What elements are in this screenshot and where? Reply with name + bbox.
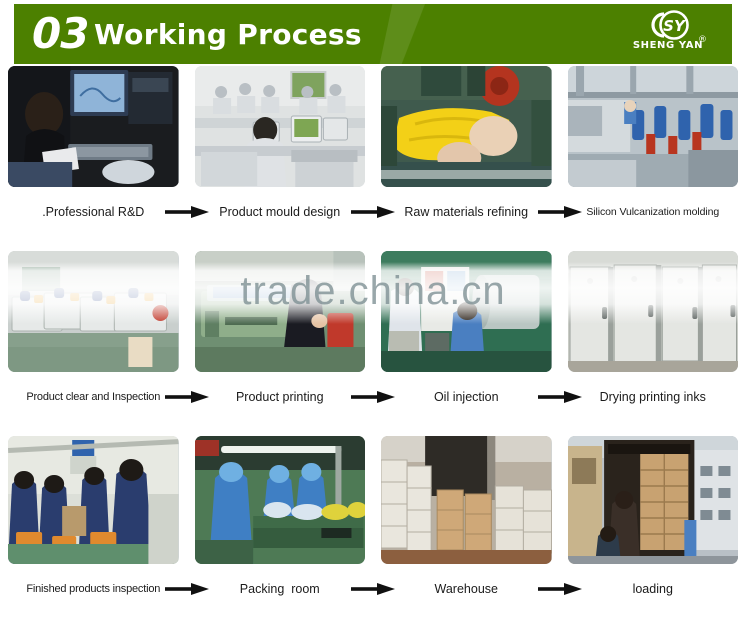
step-caption: Product printing — [236, 389, 324, 405]
process-step — [560, 436, 746, 564]
arrow-right-icon — [538, 391, 582, 403]
arrow-right-icon — [351, 391, 395, 403]
caption-cell: Finished products inspection — [0, 581, 187, 597]
process-step — [560, 251, 746, 372]
caption-cell: Drying printing inks — [560, 389, 746, 405]
caption-cell: .Professional R&D — [0, 204, 187, 220]
caption-strip: Finished products inspection Packing roo… — [0, 574, 746, 604]
arrow-right-icon — [165, 206, 209, 218]
step-caption: Warehouse — [435, 581, 498, 597]
arrow-right-icon — [351, 206, 395, 218]
process-step — [560, 66, 746, 187]
arrow-right-icon — [538, 583, 582, 595]
process-step — [373, 251, 560, 372]
photo-loading — [568, 436, 739, 564]
photo-product-clear-and-inspection — [8, 251, 179, 372]
process-step — [187, 66, 374, 187]
step-caption: Raw materials refining — [404, 204, 528, 220]
photo-finished-products-inspection — [8, 436, 179, 564]
step-caption: Drying printing inks — [600, 389, 706, 405]
photo-product-mould-design — [195, 66, 366, 187]
photo-product-printing — [195, 251, 366, 372]
arrow-right-icon — [165, 583, 209, 595]
caption-strip: .Professional R&D Product mould design — [0, 197, 746, 227]
caption-cell: Packing room — [187, 581, 374, 597]
process-row: .Professional R&D Product mould design — [0, 66, 746, 251]
section-header-banner: 03 Working Process SY SHENG YAN ® — [14, 4, 732, 64]
process-grid: .Professional R&D Product mould design — [0, 66, 746, 624]
photo-drying-printing-inks — [568, 251, 739, 372]
company-logo: SY SHENG YAN ® — [622, 9, 718, 61]
caption-cell: loading — [560, 581, 746, 597]
process-step — [187, 251, 374, 372]
registered-trademark-icon: ® — [698, 35, 707, 45]
step-caption: Product clear and Inspection — [26, 389, 160, 405]
process-row: Finished products inspection Packing roo… — [0, 436, 746, 624]
caption-cell: Warehouse — [373, 581, 560, 597]
section-number: 03 — [32, 8, 88, 60]
caption-strip: Product clear and Inspection Product pri… — [0, 382, 746, 412]
process-step — [373, 66, 560, 187]
step-caption: Packing room — [240, 581, 320, 597]
caption-cell: Silicon Vulcanization molding — [560, 204, 746, 220]
caption-cell: Oil injection — [373, 389, 560, 405]
arrow-right-icon — [351, 583, 395, 595]
photo-silicon-vulcanization-molding — [568, 66, 739, 187]
step-caption: Finished products inspection — [26, 581, 160, 597]
caption-cell: Product printing — [187, 389, 374, 405]
photo-raw-materials-refining — [381, 66, 552, 187]
photo-warehouse — [381, 436, 552, 564]
photo-professional-rd — [8, 66, 179, 187]
caption-cell: Product mould design — [187, 204, 374, 220]
step-caption: loading — [633, 581, 673, 597]
photo-oil-injection — [381, 251, 552, 372]
arrow-right-icon — [165, 391, 209, 403]
process-step — [187, 436, 374, 564]
arrow-right-icon — [538, 206, 582, 218]
sy-monogram-icon: SY — [644, 10, 702, 40]
svg-text:SY: SY — [663, 17, 687, 35]
step-caption: .Professional R&D — [42, 204, 144, 220]
page-title: Working Process — [94, 14, 362, 56]
caption-cell: Product clear and Inspection — [0, 389, 187, 405]
process-step — [0, 251, 187, 372]
step-caption: Oil injection — [434, 389, 499, 405]
step-caption: Silicon Vulcanization molding — [586, 204, 719, 220]
process-step — [0, 436, 187, 564]
step-caption: Product mould design — [219, 204, 340, 220]
photo-packing-room — [195, 436, 366, 564]
process-step — [373, 436, 560, 564]
working-process-page: 03 Working Process SY SHENG YAN ® — [0, 0, 746, 624]
process-row: Product clear and Inspection Product pri… — [0, 251, 746, 436]
caption-cell: Raw materials refining — [373, 204, 560, 220]
company-name: SHENG YAN — [630, 40, 706, 51]
process-step — [0, 66, 187, 187]
